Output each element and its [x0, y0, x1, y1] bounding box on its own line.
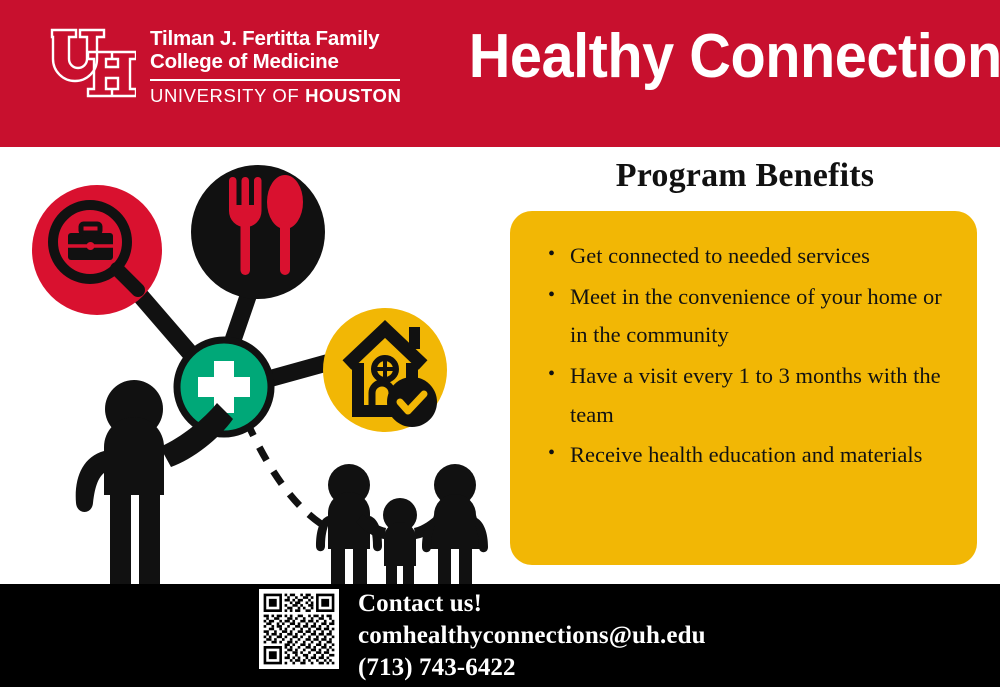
logo-line-3: UNIVERSITY OF HOUSTON — [150, 85, 401, 107]
family-adult-female — [422, 464, 488, 587]
logo-university-prefix: UNIVERSITY OF — [150, 85, 305, 106]
dashed-arc-connector — [247, 422, 335, 532]
benefits-card: Get connected to needed services Meet in… — [510, 211, 977, 565]
contact-heading: Contact us! — [358, 588, 706, 620]
header-band: Tilman J. Fertitta Family College of Med… — [0, 0, 1000, 147]
contact-email[interactable]: comhealthyconnections@uh.edu — [358, 620, 706, 652]
contact-block: Contact us! comhealthyconnections@uh.edu… — [358, 588, 706, 684]
logo-line-2: College of Medicine — [150, 51, 401, 74]
program-illustration — [0, 147, 510, 587]
benefit-item: Receive health education and materials — [570, 436, 947, 475]
benefit-item: Meet in the convenience of your home or … — [570, 278, 947, 355]
node-employment — [32, 185, 162, 315]
logo-line-1: Tilman J. Fertitta Family — [150, 28, 401, 51]
benefit-item: Have a visit every 1 to 3 months with th… — [570, 357, 947, 434]
flyer-canvas: Tilman J. Fertitta Family College of Med… — [0, 0, 1000, 687]
benefit-item: Get connected to needed services — [570, 237, 947, 276]
qr-code[interactable] — [259, 589, 339, 669]
figure-family — [316, 464, 488, 587]
logo-divider — [150, 79, 400, 81]
contact-phone[interactable]: (713) 743-6422 — [358, 652, 706, 684]
logo-houston: HOUSTON — [305, 85, 401, 106]
node-housing — [323, 308, 447, 432]
page-title: Healthy Connections — [469, 24, 967, 89]
benefits-list: Get connected to needed services Meet in… — [540, 237, 947, 475]
benefits-heading: Program Benefits — [510, 157, 980, 195]
node-food — [191, 165, 325, 299]
uh-monogram-icon — [48, 26, 136, 100]
logo-text-block: Tilman J. Fertitta Family College of Med… — [150, 26, 401, 107]
uh-logo-lockup: Tilman J. Fertitta Family College of Med… — [48, 26, 401, 107]
